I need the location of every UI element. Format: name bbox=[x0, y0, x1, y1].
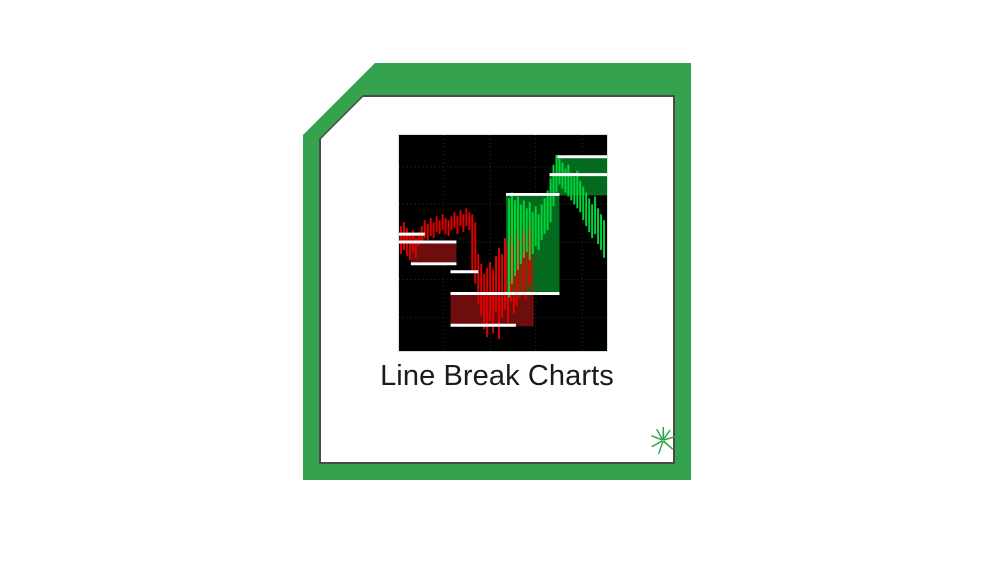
page-title: Line Break Charts bbox=[303, 360, 691, 393]
line-break-chart-thumbnail bbox=[398, 134, 608, 352]
green-asterisk-logo bbox=[649, 427, 677, 457]
screenshot-canvas: Line Break Charts bbox=[0, 0, 1005, 565]
line-break-chart-svg bbox=[399, 135, 607, 351]
green-asterisk-icon bbox=[649, 427, 677, 457]
